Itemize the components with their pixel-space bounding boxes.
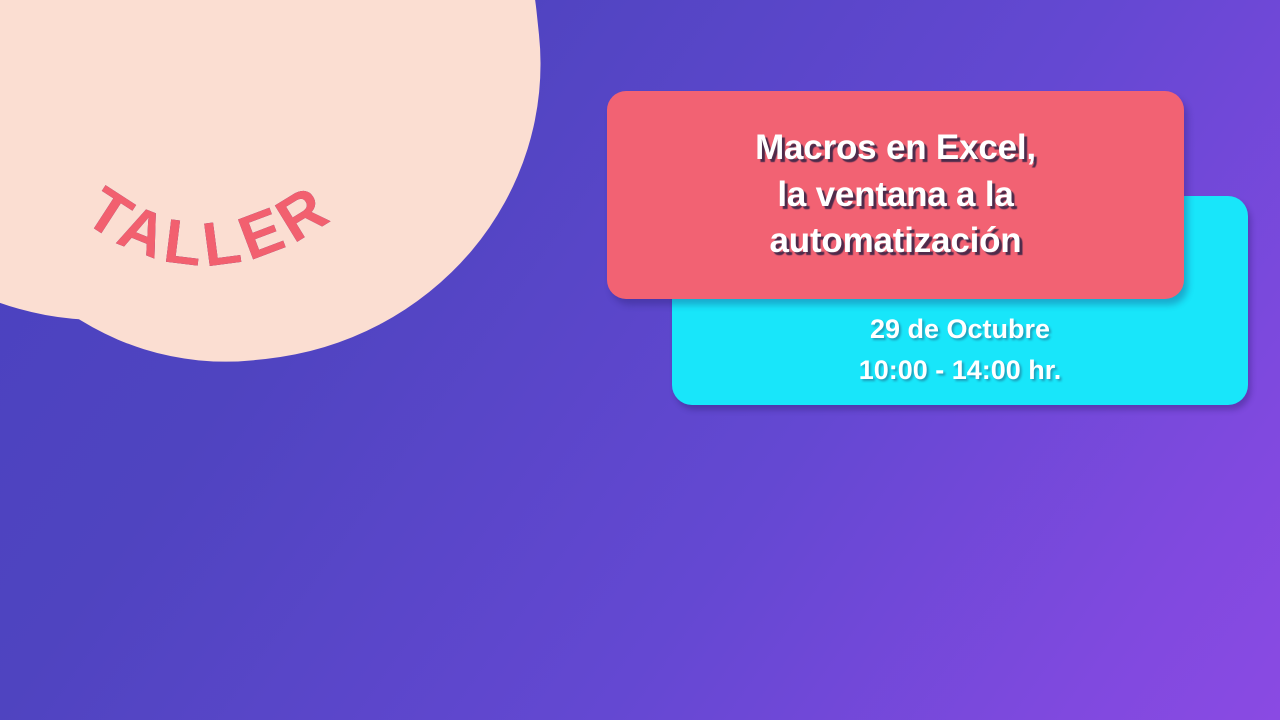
event-date: 29 de Octubre — [672, 309, 1248, 350]
cream-blob-shape — [0, 0, 570, 390]
event-title-line-2: la ventana a la — [755, 172, 1036, 219]
event-time: 10:00 - 14:00 hr. — [672, 350, 1248, 391]
schedule-text: 29 de Octubre 10:00 - 14:00 hr. — [672, 309, 1248, 391]
event-poster: TALLER TALLER 29 de Octubre 10:00 - 14:0… — [0, 0, 1280, 720]
event-title: Macros en Excel, la ventana a la automat… — [755, 125, 1036, 265]
event-title-line-1: Macros en Excel, — [755, 125, 1036, 172]
event-title-line-3: automatización — [755, 218, 1036, 265]
title-card: Macros en Excel, la ventana a la automat… — [607, 91, 1184, 299]
footer-logo-bar: Red de Centros de Innovación — [0, 530, 1280, 720]
